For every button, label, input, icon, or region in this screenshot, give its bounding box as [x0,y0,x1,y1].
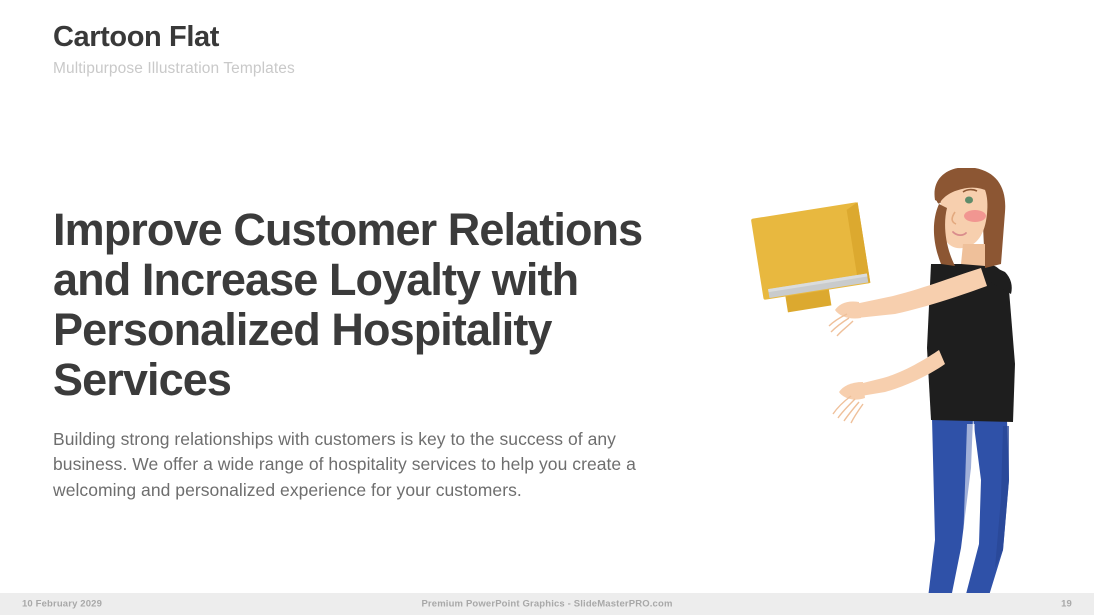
footer-date: 10 February 2029 [22,599,102,610]
footer-attribution: Premium PowerPoint Graphics - SlideMaste… [421,599,672,610]
arm-lower-open-hand [833,350,945,423]
illustration-woman-holding-box [735,168,1085,600]
slide-body-text: Building strong relationships with custo… [53,427,668,503]
brand-block: Cartoon Flat Multipurpose Illustration T… [53,22,473,78]
blush-icon [964,210,986,222]
brand-title: Cartoon Flat [53,22,473,54]
footer-inner: 10 February 2029 Premium PowerPoint Grap… [0,593,1094,615]
slide-footer: 10 February 2029 Premium PowerPoint Grap… [0,593,1094,615]
slide-headline: Improve Customer Relations and Increase … [53,205,668,405]
slide-canvas: Cartoon Flat Multipurpose Illustration T… [0,0,1094,615]
brand-subtitle: Multipurpose Illustration Templates [53,59,473,78]
legs-jeans [927,418,1009,600]
illustration-svg [735,168,1085,600]
content-column: Improve Customer Relations and Increase … [53,205,668,503]
footer-page-number: 19 [1061,599,1072,610]
eye-icon [965,197,973,204]
cardboard-box-icon [751,202,873,316]
